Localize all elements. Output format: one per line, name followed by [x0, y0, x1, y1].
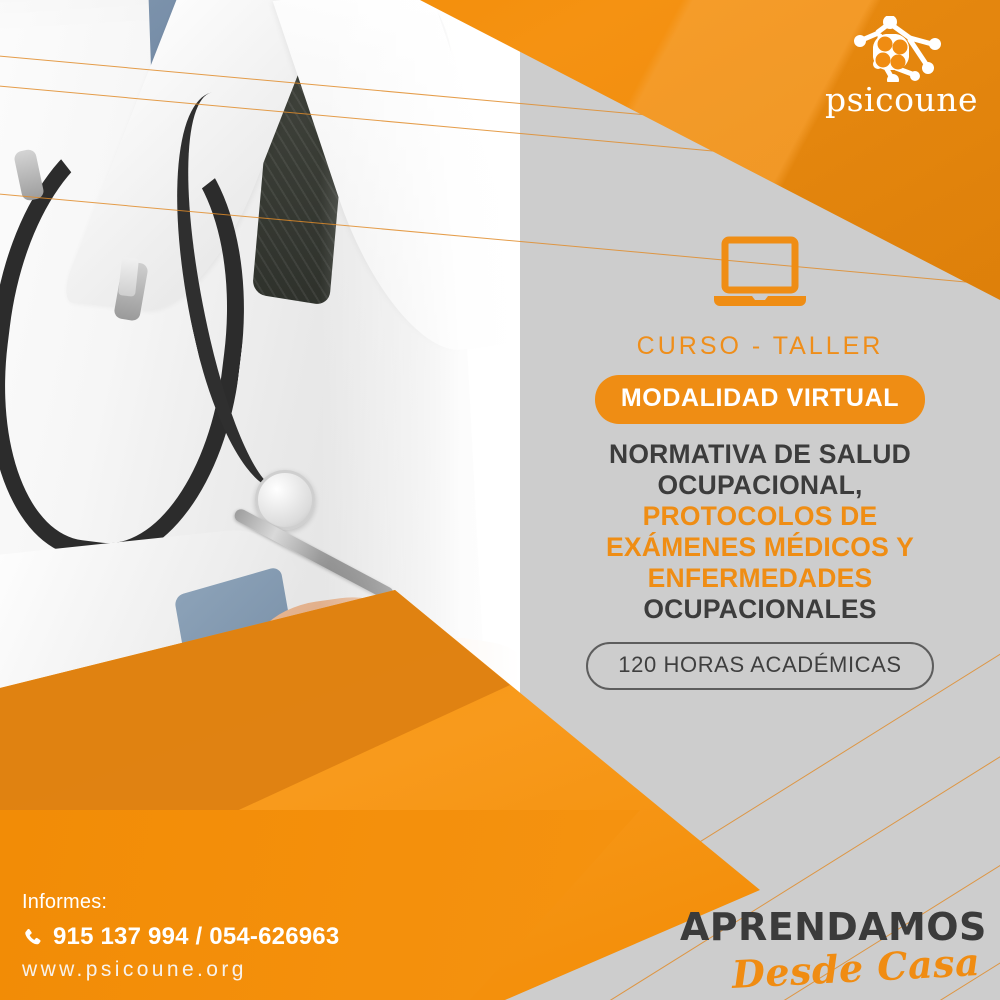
course-info-block: CURSO - TALLER MODALIDAD VIRTUAL NORMATI…: [540, 236, 980, 690]
title-line: OCUPACIONALES: [540, 594, 980, 625]
phone-icon: [22, 927, 43, 948]
course-eyebrow: CURSO - TALLER: [540, 332, 980, 361]
brand-wordmark: psicoune: [810, 83, 978, 116]
molecule-network-icon: [840, 16, 948, 82]
laptop-icon: [712, 236, 808, 310]
academic-hours-badge: 120 HORAS ACADÉMICAS: [586, 642, 933, 690]
brand-logo[interactable]: psicoune: [810, 16, 978, 116]
modality-badge: MODALIDAD VIRTUAL: [595, 375, 925, 424]
website-url[interactable]: www.psicoune.org: [22, 958, 442, 982]
promotional-flyer: psicoune CURSO - TALLER MODALIDAD VIRTUA…: [0, 0, 1000, 1000]
tagline-block: APRENDAMOS Desde Casa: [680, 908, 980, 982]
phone-number: 915 137 994 / 054-626963: [53, 923, 339, 951]
title-line: PROTOCOLOS DE: [540, 501, 980, 532]
informes-label: Informes:: [22, 891, 442, 914]
course-title: NORMATIVA DE SALUD OCUPACIONAL, PROTOCOL…: [540, 439, 980, 625]
phone-row[interactable]: 915 137 994 / 054-626963: [22, 923, 442, 951]
contact-block: Informes: 915 137 994 / 054-626963 www.p…: [22, 891, 442, 982]
title-line: OCUPACIONAL,: [540, 470, 980, 501]
title-line: EXÁMENES MÉDICOS Y: [540, 532, 980, 563]
title-line: ENFERMEDADES: [540, 563, 980, 594]
title-line: NORMATIVA DE SALUD: [540, 439, 980, 470]
